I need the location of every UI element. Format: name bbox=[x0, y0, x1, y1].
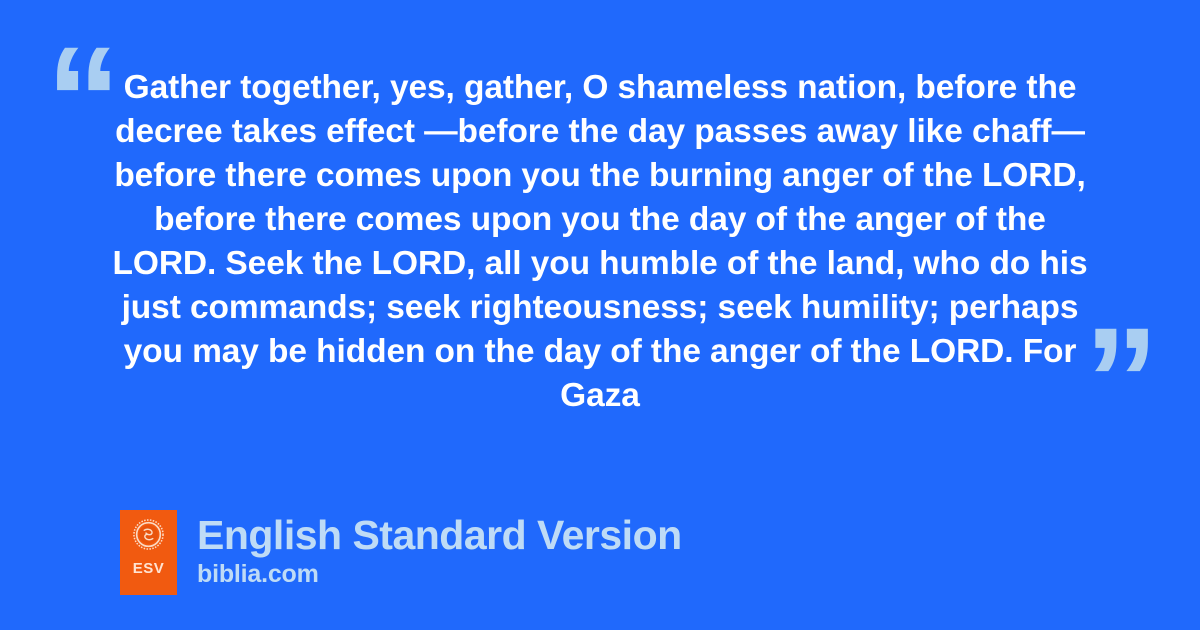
attribution-text: English Standard Version biblia.com bbox=[197, 510, 682, 589]
source-site-label: biblia.com bbox=[197, 559, 682, 589]
quote-text: Gather together, yes, gather, O shameles… bbox=[110, 66, 1090, 418]
quote-block: “ Gather together, yes, gather, O shamel… bbox=[0, 0, 1200, 460]
esv-logo: ESV bbox=[120, 510, 177, 595]
quote-card: “ Gather together, yes, gather, O shamel… bbox=[0, 0, 1200, 630]
bible-version-title: English Standard Version bbox=[197, 511, 682, 559]
esv-logo-abbreviation: ESV bbox=[133, 561, 165, 576]
attribution: ESV English Standard Version biblia.com bbox=[120, 510, 682, 595]
closing-quote-mark-icon: ” bbox=[1084, 305, 1157, 455]
opening-quote-mark-icon: “ bbox=[46, 24, 119, 174]
esv-seal-icon bbox=[133, 519, 164, 550]
